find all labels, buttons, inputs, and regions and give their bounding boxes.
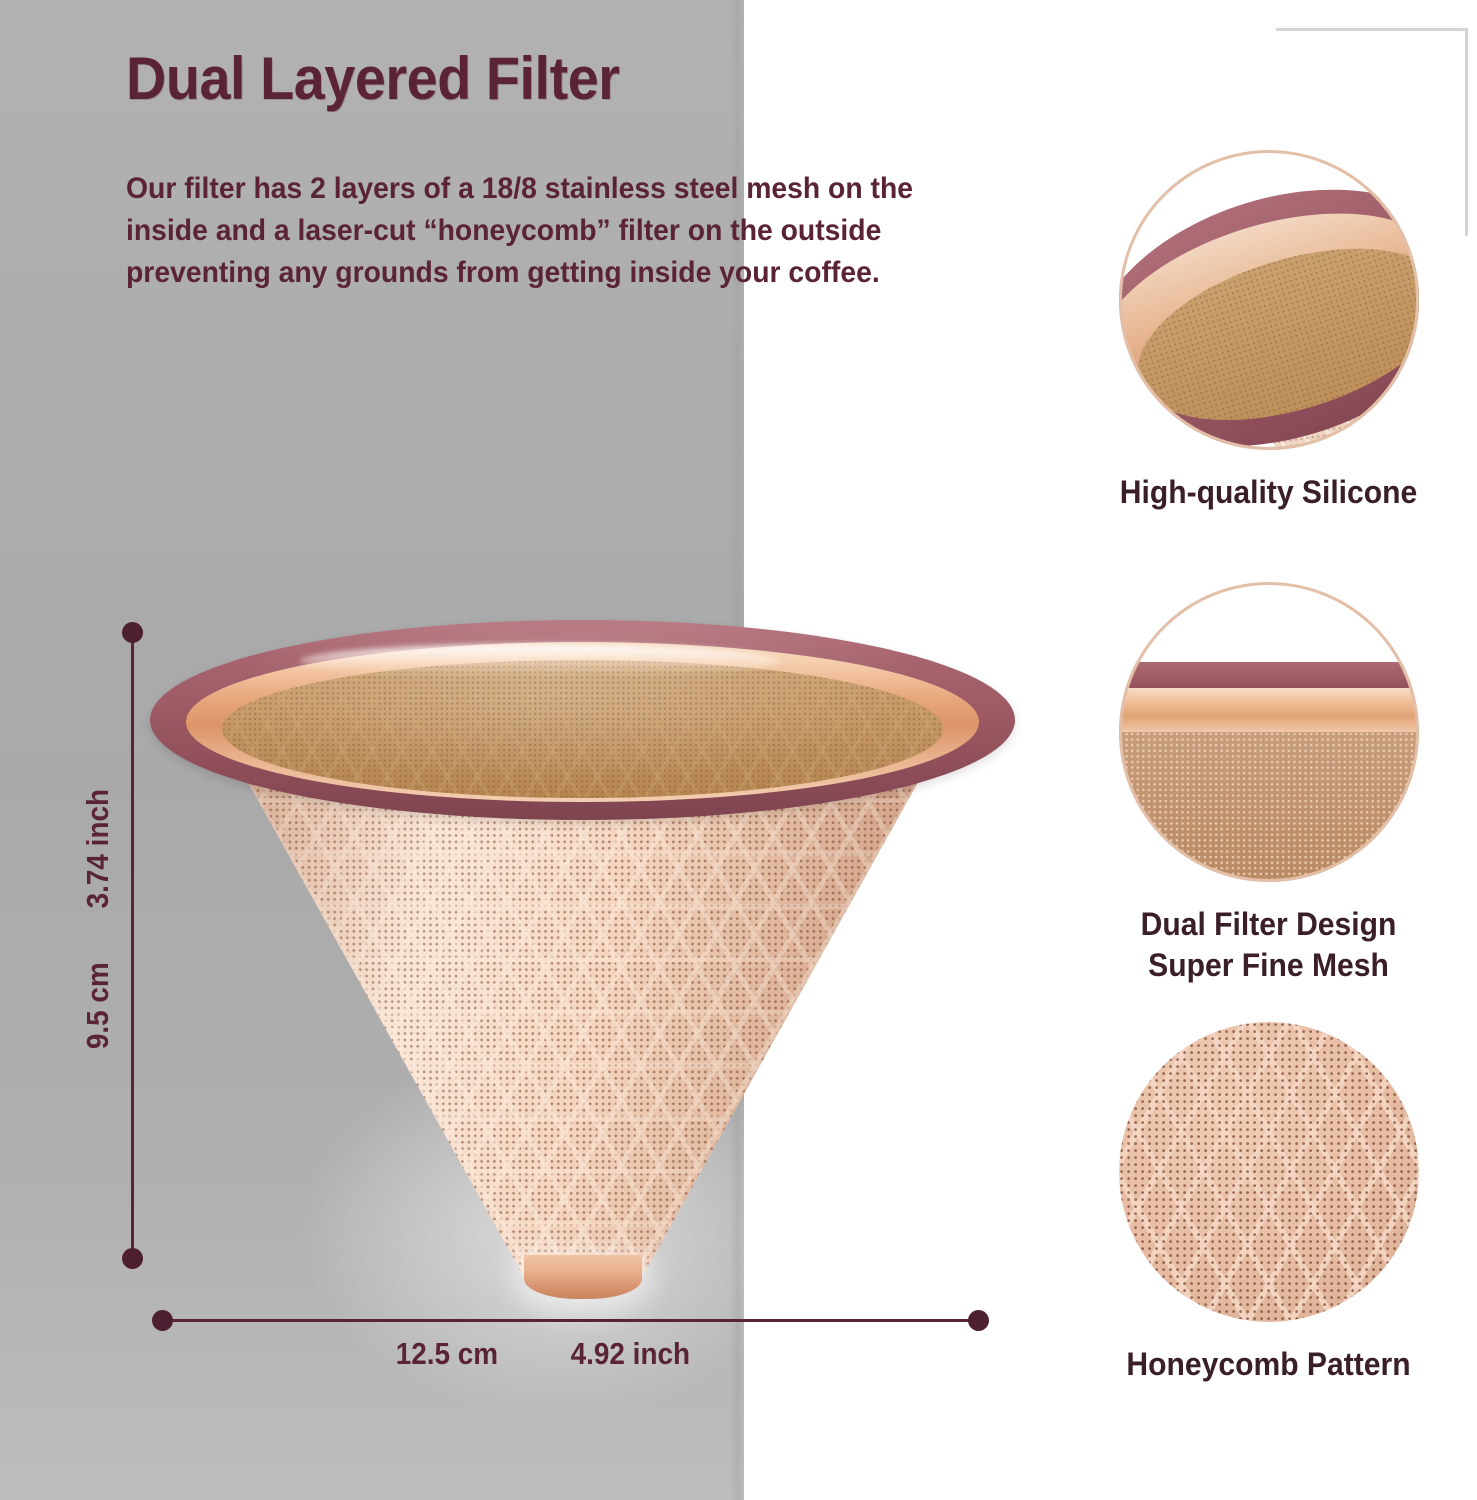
width-dimension-endpoint-right	[968, 1310, 989, 1331]
honeycomb-pattern-disc	[1119, 1022, 1419, 1322]
feature-callout-silicone: High-quality Silicone	[1060, 150, 1477, 513]
caption-line-1: Dual Filter Design	[1073, 904, 1465, 945]
dual-filter-detail-circle	[1119, 582, 1419, 882]
feature-callout-dual-filter: Dual Filter Design Super Fine Mesh	[1060, 582, 1477, 986]
honeycomb-detail-photo	[1119, 1022, 1419, 1322]
cone-filter-graphic	[150, 600, 1015, 1290]
height-label-cm: 9.5 cm	[80, 962, 116, 1049]
infographic-canvas: Dual Layered Filter Our filter has 2 lay…	[0, 0, 1477, 1500]
cone-copper-tip	[524, 1255, 642, 1299]
width-dimension-endpoint-left	[152, 1310, 173, 1331]
page-title: Dual Layered Filter	[126, 44, 620, 113]
feature-caption-honeycomb: Honeycomb Pattern	[1073, 1344, 1465, 1385]
honeycomb-detail-circle	[1119, 1022, 1419, 1322]
feature-callout-honeycomb: Honeycomb Pattern	[1060, 1022, 1477, 1385]
caption-line-1: Honeycomb Pattern	[1073, 1344, 1465, 1385]
width-label-inch: 4.92 inch	[570, 1336, 689, 1372]
height-dimension-endpoint-bottom	[122, 1248, 143, 1269]
width-label-cm: 12.5 cm	[396, 1336, 498, 1372]
product-image-cone-filter	[150, 600, 1015, 1290]
height-dimension-labels: 9.5 cm 3.74 inch	[80, 768, 116, 1068]
silicone-detail-circle	[1119, 150, 1419, 450]
dual-filter-circle-ring	[1119, 582, 1419, 882]
feature-caption-dual-filter: Dual Filter Design Super Fine Mesh	[1073, 904, 1465, 986]
caption-line-2: Super Fine Mesh	[1073, 945, 1465, 986]
mesh-hex-overlay	[222, 660, 943, 798]
height-dimension-endpoint-top	[122, 622, 143, 643]
cone-shading	[230, 750, 936, 1275]
description-text: Our filter has 2 layers of a 18/8 stainl…	[126, 168, 923, 294]
width-dimension-labels: 12.5 cm 4.92 inch	[390, 1336, 696, 1372]
silicone-circle-ring	[1119, 150, 1419, 450]
feature-callout-list: High-quality Silicone Dual Filter Design…	[1060, 150, 1477, 1420]
caption-line-1: High-quality Silicone	[1073, 472, 1465, 513]
height-label-inch: 3.74 inch	[80, 789, 116, 908]
rim-specular-highlight	[300, 644, 780, 678]
height-dimension-line	[131, 636, 134, 1256]
feature-caption-silicone: High-quality Silicone	[1073, 472, 1465, 513]
width-dimension-line	[168, 1319, 980, 1322]
